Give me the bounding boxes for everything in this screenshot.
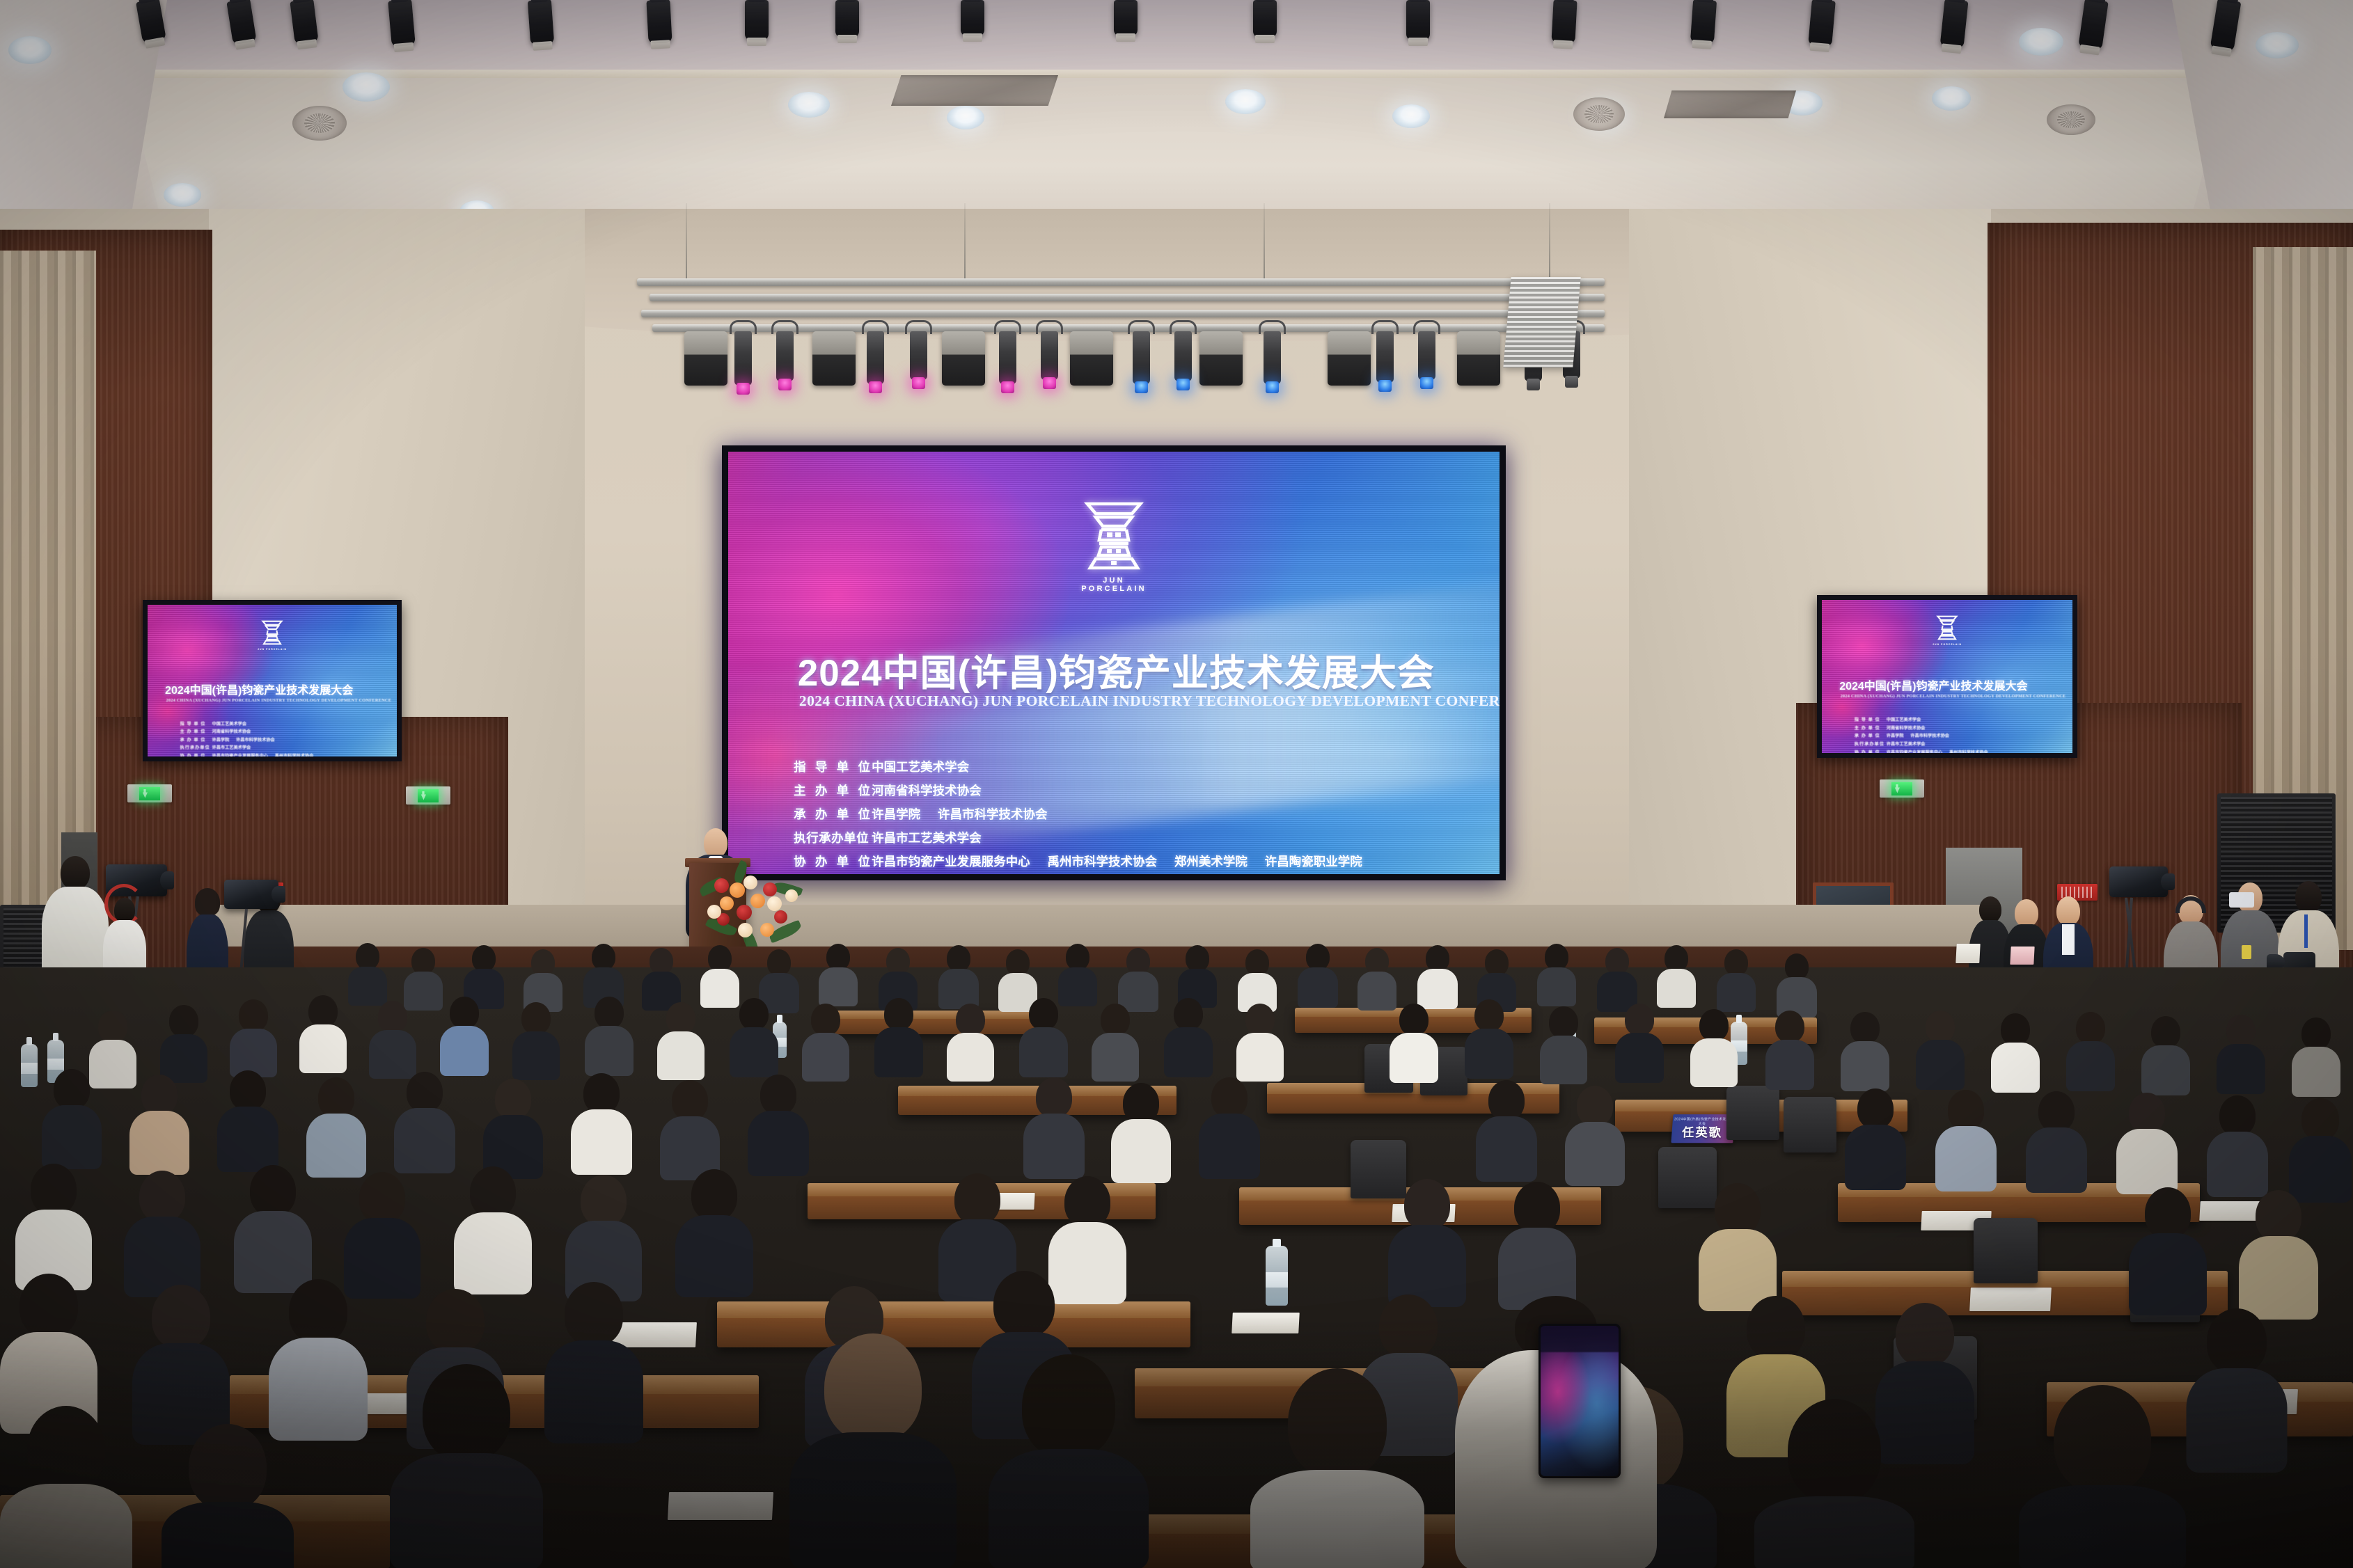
audience-head [495, 1079, 531, 1119]
audience-head [31, 1164, 77, 1215]
ceiling-track-spotlight [1253, 0, 1277, 38]
audience-member [2116, 1093, 2178, 1180]
audience-head [98, 1011, 127, 1043]
side-organizer-label: 主 办 单 位 [180, 728, 212, 734]
ceiling-downlight [1932, 86, 1971, 111]
audience-member [1023, 1077, 1085, 1165]
truss-bar [650, 294, 1605, 301]
organizer-entry: 许昌市工艺美术学会 [872, 831, 982, 845]
audience-head [1788, 1399, 1881, 1503]
side-organizer-value: 许昌市钧瓷产业发展服务中心 禹州市科学技术协会 [212, 752, 320, 757]
audience-member [234, 1165, 312, 1276]
ceiling-track-spotlight [1690, 0, 1717, 44]
water-bottle [21, 1044, 38, 1087]
side-organizer-label: 承 办 单 位 [1855, 732, 1887, 738]
audience-body [789, 1432, 957, 1568]
audience-head [1029, 998, 1058, 1030]
audience-member [129, 1075, 189, 1161]
stage-par-light-pink [867, 331, 884, 384]
audience-head [1724, 949, 1748, 976]
audience-head [954, 1173, 1000, 1225]
audience-member [306, 1077, 366, 1164]
organizer-label: 承 办 单 位 [794, 805, 872, 823]
ceiling-track-spotlight [388, 0, 416, 47]
audience-body [657, 1031, 705, 1080]
headphones-icon [2175, 896, 2206, 913]
bottle-label [47, 1059, 64, 1070]
audience-member [15, 1164, 92, 1274]
exit-sign-glow [418, 789, 439, 802]
side-organizer-row: 承 办 单 位 许昌学院 许昌市科学技术协会 [180, 736, 385, 743]
ceiling-track-spotlight [290, 0, 318, 45]
audience-head [1715, 1183, 1761, 1235]
audience-member [938, 1173, 1016, 1285]
audience-member [132, 1285, 230, 1424]
audience-head [1488, 1080, 1525, 1120]
side-organizer-label: 指 导 单 位 [180, 720, 212, 727]
side-organizer-entry: 许昌市钧瓷产业发展服务中心 [1887, 750, 1942, 753]
audience-member [544, 1282, 643, 1423]
side-organizer-row: 执行承办单位 许昌市工艺美术学会 [180, 744, 385, 750]
audience-body [162, 1502, 294, 1568]
audience-head [2301, 1098, 2339, 1140]
audience-body [585, 1026, 633, 1076]
audience-head [739, 998, 769, 1030]
side-title-cn: 2024中国(许昌)钧瓷产业技术发展大会 [1839, 676, 2027, 693]
organizer-value: 河南省科学技术协会 [872, 782, 995, 799]
light-lens-purple [1043, 377, 1056, 389]
phone-screen-preview [1541, 1326, 1619, 1476]
main-led-screen: JUN PORCELAIN 2024中国(许昌)钧瓷产业技术发展大会 2024 … [722, 445, 1506, 880]
organizer-list: 指 导 单 位 中国工艺美术学会 主 办 单 位 河南省科学技术协会 承 办 单… [794, 758, 1472, 874]
side-organizer-entry: 中国工艺美术学会 [1887, 718, 1921, 722]
staff-head [2056, 896, 2080, 926]
audience-body [348, 967, 387, 1006]
audience-body [1019, 1027, 1068, 1077]
audience-member [1916, 1011, 1965, 1080]
organizer-value: 许昌学院 许昌市科学技术协会 [872, 805, 1061, 823]
audience-member [700, 945, 739, 1001]
side-organizer-label: 执行承办单位 [1855, 741, 1887, 747]
audience-member-foreground [989, 1354, 1149, 1568]
staff-head [1979, 896, 2001, 923]
audience-head [1426, 945, 1449, 972]
side-organizer-entry: 河南省科学技术协会 [212, 729, 251, 734]
truss-hanging-wire [686, 203, 687, 280]
audience-body [1841, 1041, 1889, 1091]
audience-head [826, 944, 850, 970]
audience-member [2217, 1015, 2265, 1084]
side-organizer-value: 河南省科学技术协会 [1887, 724, 1931, 731]
audience-head [1850, 1012, 1880, 1044]
ceiling-vent-panel [1664, 90, 1796, 118]
held-document [1955, 944, 1980, 963]
audience-body [1765, 1040, 1814, 1090]
stage-par-light-pink [776, 331, 794, 381]
side-title-cn: 2024中国(许昌)钧瓷产业技术发展大会 [165, 681, 353, 697]
audience-head [1123, 1083, 1159, 1123]
ceiling-track-spotlight [835, 0, 859, 38]
audience-head [239, 999, 268, 1031]
stage-fresnel-light [1457, 331, 1500, 386]
audience-head [2301, 1017, 2331, 1050]
stage-par-light-purple [999, 331, 1016, 384]
audience-member [0, 1274, 97, 1413]
audience-member [1111, 1083, 1171, 1169]
side-jun-logo: JUN PORCELAIN [1933, 614, 1962, 646]
side-organizer-value: 河南省科学技术协会 [212, 728, 257, 734]
jun-porcelain-vessel-icon [1935, 614, 1959, 642]
audience-head [1399, 1004, 1429, 1036]
side-organizer-entry: 许昌市科学技术协会 [1910, 734, 1949, 738]
audience-head [2256, 1190, 2301, 1242]
audience-head [1306, 944, 1330, 970]
truss-bar [637, 278, 1605, 286]
ceiling-track-spotlight [646, 0, 672, 44]
audience-body [1092, 1033, 1139, 1082]
audience-member [1765, 1011, 1814, 1080]
side-organizer-entry: 许昌学院 [212, 738, 230, 743]
audience-member [440, 997, 489, 1066]
audience-head [450, 997, 479, 1029]
light-lens-pink [869, 381, 882, 393]
side-organizer-label: 协 办 单 位 [180, 752, 212, 757]
audience-head [2151, 1016, 2180, 1048]
audience-body [1565, 1122, 1625, 1186]
audience-body [748, 1111, 809, 1176]
audience-member [1537, 944, 1576, 999]
audience-member [483, 1079, 543, 1165]
flower-orange [750, 894, 765, 908]
staff-shirt-white [2062, 924, 2075, 955]
audience-body [2217, 1044, 2265, 1094]
audience-member [2026, 1091, 2087, 1179]
side-organizer-entry: 许昌市工艺美术学会 [1887, 742, 1926, 747]
light-yoke [730, 320, 757, 334]
stage-par-light-pink [734, 331, 752, 386]
audience-head [811, 1004, 840, 1036]
organizer-label: 协 办 单 位 [794, 853, 872, 870]
organizer-entry: 河南省科学技术协会 [872, 784, 982, 798]
audience-body [1199, 1114, 1260, 1179]
audience-member [1845, 1088, 1906, 1176]
audience-body [1023, 1114, 1085, 1179]
side-title-en: 2024 CHINA (XUCHANG) JUN PORCELAIN INDUS… [1841, 694, 2066, 699]
audience-member [657, 1002, 705, 1070]
light-yoke [994, 320, 1021, 334]
audience-head [189, 1424, 267, 1510]
side-organizer-entry: 中国工艺美术学会 [212, 722, 247, 727]
light-yoke [862, 320, 889, 334]
audience-head [1857, 1088, 1894, 1129]
audience-member [1935, 1090, 1997, 1178]
stage-par-light-purple [1041, 331, 1058, 380]
audience-head [411, 948, 435, 974]
audience-head [947, 945, 970, 972]
audience-head [2207, 1308, 2267, 1374]
audience-head [708, 945, 732, 972]
audience-head [426, 1289, 485, 1353]
light-lens-blue [1266, 381, 1279, 393]
audience-member-foreground [2019, 1385, 2186, 1568]
light-yoke [1036, 320, 1063, 334]
light-lens-off [1565, 376, 1578, 388]
organizer-entry: 许昌陶瓷职业学院 [1265, 855, 1362, 869]
audience-head [1514, 1182, 1560, 1233]
side-wordmark: JUN PORCELAIN [1933, 643, 1962, 646]
table-name-card: 2024中国(许昌)钧瓷产业技术发展大会 任英歌 [1671, 1114, 1733, 1143]
audience-head [1174, 998, 1203, 1030]
ceiling-track-spotlight [1406, 0, 1430, 40]
woman-hair [195, 888, 220, 916]
flower-cream [707, 905, 721, 919]
audience-head [378, 1001, 407, 1033]
audience-body [1916, 1040, 1965, 1090]
audience-body [947, 1033, 994, 1082]
audience-member [1199, 1077, 1260, 1165]
stage-par-light-blue [1418, 331, 1435, 380]
audience-body [730, 1027, 778, 1077]
audience-member [1236, 1004, 1284, 1072]
light-yoke [771, 320, 798, 334]
organizer-value: 中国工艺美术学会 [872, 758, 983, 775]
audience-head [595, 997, 624, 1029]
side-display-right: JUN PORCELAIN 2024中国(许昌)钧瓷产业技术发展大会 2024 … [1817, 595, 2077, 758]
side-title-en: 2024 CHINA (XUCHANG) JUN PORCELAIN INDUS… [166, 698, 391, 703]
ceiling-track-spotlight [745, 0, 769, 40]
organizer-row: 主 办 单 位 河南省科学技术协会 [794, 782, 1472, 799]
organizer-entry: 郑州美术学院 [1174, 855, 1248, 869]
audience-member-foreground [162, 1424, 294, 1568]
audience-head [1365, 948, 1389, 974]
stage-fresnel-light [812, 331, 856, 386]
audience-head [691, 1169, 737, 1221]
conference-title-en: 2024 CHINA (XUCHANG) JUN PORCELAIN INDUS… [799, 692, 1500, 710]
bottle-label [21, 1063, 38, 1074]
audience-member [585, 997, 633, 1066]
broadcast-camcorder-left-2 [224, 880, 278, 909]
audience-body [390, 1453, 543, 1568]
light-yoke [1371, 320, 1399, 334]
audience-member [404, 948, 443, 1004]
audience-member [1092, 1004, 1139, 1072]
audience-head [581, 1175, 627, 1226]
audience-head [1775, 1011, 1804, 1043]
truss-hanging-wire [1264, 203, 1265, 280]
audience-body [129, 1111, 189, 1175]
audience-head [1625, 1004, 1654, 1036]
organizer-value: 许昌市工艺美术学会 [872, 829, 995, 846]
light-yoke [1170, 320, 1197, 334]
audience-member [1388, 1179, 1466, 1290]
audience-body [2066, 1041, 2115, 1091]
audience-member [217, 1070, 278, 1158]
side-organizer-row: 指 导 单 位 中国工艺美术学会 [1855, 716, 2060, 722]
audience-body [1991, 1043, 2040, 1093]
side-organizer-value: 许昌学院 许昌市科学技术协会 [1887, 732, 1955, 738]
audience-member [269, 1279, 368, 1420]
side-organizer-row: 承 办 单 位 许昌学院 许昌市科学技术协会 [1855, 732, 2060, 738]
audience-head [1036, 1077, 1072, 1118]
side-organizer-entry: 许昌市科学技术协会 [236, 738, 275, 743]
side-organizer-label: 主 办 单 位 [1855, 724, 1887, 731]
audience-member [524, 949, 562, 1005]
led-panel-surface: JUN PORCELAIN 2024中国(许昌)钧瓷产业技术发展大会 2024 … [728, 452, 1500, 874]
audience-head [1064, 1176, 1110, 1228]
audience-head [1665, 945, 1688, 972]
audience-head [1545, 944, 1568, 970]
side-organizer-value: 许昌学院 许昌市科学技术协会 [212, 736, 281, 743]
audience-member [1118, 948, 1158, 1005]
ceiling-air-vent [292, 106, 347, 141]
speaker-head [704, 828, 727, 857]
audience-head [169, 1005, 198, 1037]
side-jun-logo: JUN PORCELAIN [258, 619, 287, 651]
light-yoke [1128, 320, 1155, 334]
audience-member [1717, 949, 1756, 1005]
audience-member [730, 998, 778, 1068]
staff-head [114, 898, 135, 923]
press-lanyard [2304, 914, 2308, 948]
flower-orange [760, 923, 774, 937]
audience-member [879, 948, 918, 1004]
audience-head [1245, 949, 1269, 976]
truss-hanging-wire [964, 203, 966, 280]
audience-body [2116, 1129, 2178, 1194]
audience-head [1896, 1303, 1954, 1367]
audience-head [1022, 1354, 1115, 1459]
ceiling-downlight [2019, 28, 2063, 56]
audience-head [521, 1002, 551, 1034]
audience-member-foreground [0, 1406, 132, 1568]
audience-head [152, 1285, 210, 1349]
audience-member [1841, 1012, 1889, 1082]
ceiling-track-spotlight [1114, 0, 1138, 36]
broadcast-camcorder-right [2109, 866, 2168, 897]
audience-body [42, 1105, 102, 1169]
side-display-content: JUN PORCELAIN 2024中国(许昌)钧瓷产业技术发展大会 2024 … [148, 605, 397, 757]
flower-red [763, 882, 777, 896]
audience-head [2145, 1187, 2191, 1239]
side-organizer-row: 主 办 单 位 河南省科学技术协会 [1855, 724, 2060, 731]
ceiling-downlight [343, 72, 390, 102]
audience-body [2186, 1368, 2287, 1473]
audience-head [565, 1282, 623, 1346]
audience-head [356, 943, 379, 969]
audience-head [230, 1070, 266, 1111]
side-organizer-row: 协 办 单 位 许昌市钧瓷产业发展服务中心 禹州市科学技术协会 [180, 752, 385, 757]
jun-porcelain-vessel-icon [260, 619, 284, 647]
audience-member [1540, 1006, 1587, 1075]
audience-member [1238, 949, 1277, 1005]
audience-body [874, 1027, 923, 1077]
audience-head [1101, 1004, 1130, 1036]
ceiling-track-spotlight [961, 0, 984, 36]
organizer-row: 执行承办单位 许昌市工艺美术学会 [794, 829, 1472, 846]
side-organizer-list: 指 导 单 位 中国工艺美术学会 主 办 单 位 河南省科学技术协会 承 办 单… [1855, 716, 2060, 753]
ceiling-downlight [1225, 89, 1266, 114]
flower-cream [785, 889, 798, 902]
water-bottle [1266, 1246, 1288, 1306]
audience-member [1615, 1004, 1664, 1073]
audience-member-foreground [390, 1364, 543, 1568]
side-organizer-list: 指 导 单 位 中国工艺美术学会 主 办 单 位 河南省科学技术协会 承 办 单… [180, 720, 385, 757]
audience-member-foreground [1754, 1399, 1914, 1568]
led-screen-content: JUN PORCELAIN 2024中国(许昌)钧瓷产业技术发展大会 2024 … [728, 452, 1500, 874]
audience-chair [1974, 1218, 2038, 1283]
ceiling-downlight [788, 92, 830, 118]
audience-member [2239, 1190, 2318, 1303]
stage-fresnel-light [1199, 331, 1243, 386]
audience-body [2019, 1485, 2186, 1568]
ceiling-downlight [1392, 104, 1430, 128]
audience-body [217, 1107, 278, 1172]
audience-body [1250, 1470, 1424, 1568]
audience-member [1019, 998, 1068, 1068]
light-lens-pink [778, 379, 792, 390]
ceiling-vent-panel [891, 75, 1058, 106]
side-organizer-row: 主 办 单 位 河南省科学技术协会 [180, 728, 385, 734]
ceiling-downlight [2256, 32, 2299, 58]
audience-member [1357, 948, 1396, 1004]
side-organizer-label: 承 办 单 位 [180, 736, 212, 743]
audience-member [802, 1004, 849, 1072]
audience-body [1717, 973, 1756, 1012]
audience-member [1058, 944, 1097, 999]
truss-hanging-wire [1549, 203, 1550, 280]
audience-body [571, 1109, 632, 1175]
flower-orange [720, 896, 734, 910]
audience-member [874, 998, 923, 1068]
flower-cream [743, 876, 757, 889]
audience-head [1699, 1009, 1729, 1041]
audience-member [1477, 949, 1516, 1005]
jun-porcelain-logo: JUN PORCELAIN [1073, 498, 1154, 593]
emergency-exit-sign-right [406, 786, 450, 805]
side-display-left: JUN PORCELAIN 2024中国(许昌)钧瓷产业技术发展大会 2024 … [143, 600, 402, 761]
organizer-label: 指 导 单 位 [794, 758, 872, 775]
audience-member [660, 1080, 720, 1166]
desk-surface [717, 1301, 1190, 1318]
organizer-entry: 许昌市钧瓷产业发展服务中心 [872, 855, 1030, 869]
audience-head [824, 1333, 922, 1442]
audience-chair [1784, 1097, 1836, 1153]
held-document [2010, 947, 2034, 965]
audience-member [1476, 1080, 1537, 1168]
audience-head [1006, 949, 1030, 976]
press-badge [2242, 945, 2251, 959]
audience-head [884, 998, 913, 1030]
audience-head [472, 945, 496, 972]
stage-par-light-blue [1376, 331, 1394, 383]
audience-head [531, 949, 555, 976]
audience-member [160, 1005, 207, 1073]
audience-member [938, 945, 979, 1002]
desk-document [1969, 1288, 2052, 1311]
organizer-entry: 许昌市科学技术协会 [938, 807, 1048, 821]
audience-member-foreground [789, 1333, 957, 1568]
audience-member [2207, 1095, 2268, 1183]
audience-member [819, 944, 858, 999]
audience-member [299, 995, 347, 1063]
audience-member [675, 1169, 753, 1281]
side-organizer-label: 协 办 单 位 [1855, 749, 1887, 753]
audience-body [1465, 1029, 1513, 1079]
audience-member [1690, 1009, 1738, 1077]
emergency-exit-sign-far-right [1880, 779, 1924, 798]
audience-head [289, 1279, 347, 1343]
desk-document [1231, 1313, 1300, 1333]
